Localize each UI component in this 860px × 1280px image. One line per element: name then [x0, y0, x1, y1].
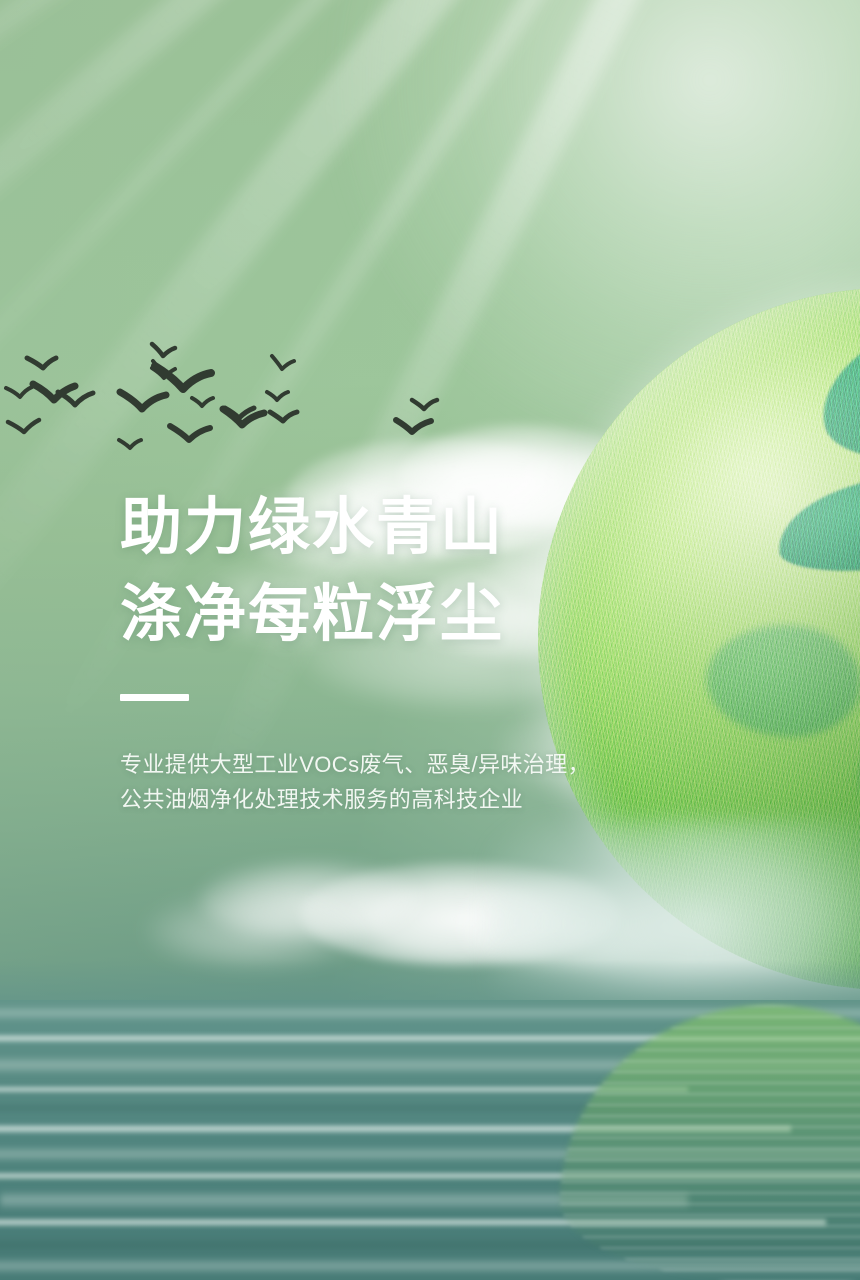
headline-line-1: 助力绿水青山: [120, 484, 680, 571]
banner-content: 助力绿水青山 涤净每粒浮尘 专业提供大型工业VOCs废气、恶臭/异味治理， 公共…: [120, 484, 680, 817]
subtitle-line-2: 公共油烟净化处理技术服务的高科技企业: [120, 782, 680, 817]
eco-banner-poster: 助力绿水青山 涤净每粒浮尘 专业提供大型工业VOCs废气、恶臭/异味治理， 公共…: [0, 0, 860, 1280]
headline-line-2: 涤净每粒浮尘: [120, 571, 680, 658]
title-divider: [120, 694, 189, 701]
subtitle-line-1: 专业提供大型工业VOCs废气、恶臭/异味治理，: [120, 747, 680, 782]
